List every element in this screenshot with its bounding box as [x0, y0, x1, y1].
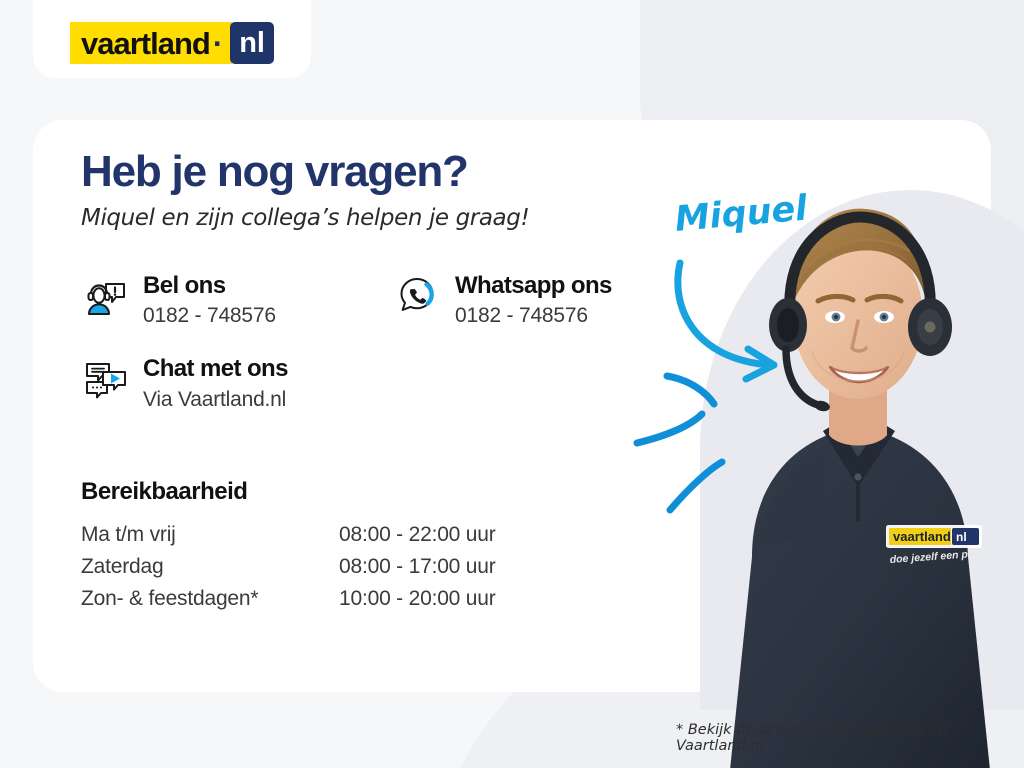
- availability-title: Bereikbaarheid: [81, 478, 681, 506]
- promo-banner: vaartland · nl Heb je nog vragen? Miquel…: [0, 0, 1024, 768]
- agent-portrait: vaartland nl doe jezelf een plezier: [690, 105, 1024, 768]
- contact-text-call: Bel ons 0182 - 748576: [143, 271, 276, 329]
- availability-hours: 10:00 - 20:00 uur: [339, 583, 496, 615]
- headset-person-icon: [81, 271, 129, 319]
- availability-table: Ma t/m vrij 08:00 - 22:00 uur Zaterdag 0…: [81, 519, 496, 615]
- table-row: Ma t/m vrij 08:00 - 22:00 uur: [81, 519, 496, 551]
- contact-item-whatsapp[interactable]: Whatsapp ons 0182 - 748576: [393, 271, 612, 329]
- availability-day: Zon- & feestdagen*: [81, 583, 339, 615]
- contact-title-call: Bel ons: [143, 272, 225, 299]
- table-row: Zaterdag 08:00 - 17:00 uur: [81, 551, 496, 583]
- svg-text:nl: nl: [956, 530, 967, 544]
- logo-wordmark: vaartland ·: [70, 22, 232, 64]
- whatsapp-bubble-icon: [393, 271, 441, 319]
- contact-text-whatsapp: Whatsapp ons 0182 - 748576: [455, 271, 612, 329]
- contact-text-chat: Chat met ons Via Vaartland.nl: [143, 354, 288, 412]
- svg-text:vaartland: vaartland: [893, 529, 951, 544]
- availability-section: Bereikbaarheid Ma t/m vrij 08:00 - 22:00…: [81, 478, 681, 615]
- contact-methods: Bel ons 0182 - 748576: [81, 271, 681, 412]
- logo-tld: nl: [230, 22, 274, 64]
- contact-value-call: 0182 - 748576: [143, 304, 276, 328]
- table-row: Zon- & feestdagen* 10:00 - 20:00 uur: [81, 583, 496, 615]
- availability-day: Zaterdag: [81, 551, 339, 583]
- logo-dot: ·: [213, 28, 222, 59]
- logo-word-text: vaartland: [81, 28, 210, 59]
- brand-logo[interactable]: vaartland · nl: [33, 0, 311, 78]
- shirt-logo: vaartland nl doe jezelf een plezier: [886, 525, 996, 566]
- contact-title-whatsapp: Whatsapp ons: [455, 272, 612, 299]
- agent-photo-area: Miquel: [612, 0, 1024, 768]
- contact-row-chat: Chat met ons Via Vaartland.nl: [81, 354, 681, 412]
- page-subtitle: Miquel en zijn collega’s helpen je graag…: [81, 205, 681, 231]
- page-title: Heb je nog vragen?: [81, 148, 681, 196]
- contact-item-call[interactable]: Bel ons 0182 - 748576: [81, 271, 339, 329]
- availability-day: Ma t/m vrij: [81, 519, 339, 551]
- contact-value-whatsapp: 0182 - 748576: [455, 304, 612, 328]
- content-card-inner: Heb je nog vragen? Miquel en zijn colleg…: [81, 148, 681, 615]
- contact-item-chat[interactable]: Chat met ons Via Vaartland.nl: [81, 354, 339, 412]
- contact-title-chat: Chat met ons: [143, 355, 288, 382]
- logo-lockup: vaartland · nl: [70, 22, 274, 64]
- chat-bubbles-icon: [81, 354, 129, 402]
- footnote: * Bekijk de actuele openingstijden op Va…: [676, 722, 1024, 754]
- availability-hours: 08:00 - 17:00 uur: [339, 551, 496, 583]
- contact-row-primary: Bel ons 0182 - 748576: [81, 271, 681, 329]
- contact-value-chat: Via Vaartland.nl: [143, 388, 288, 412]
- availability-hours: 08:00 - 22:00 uur: [339, 519, 496, 551]
